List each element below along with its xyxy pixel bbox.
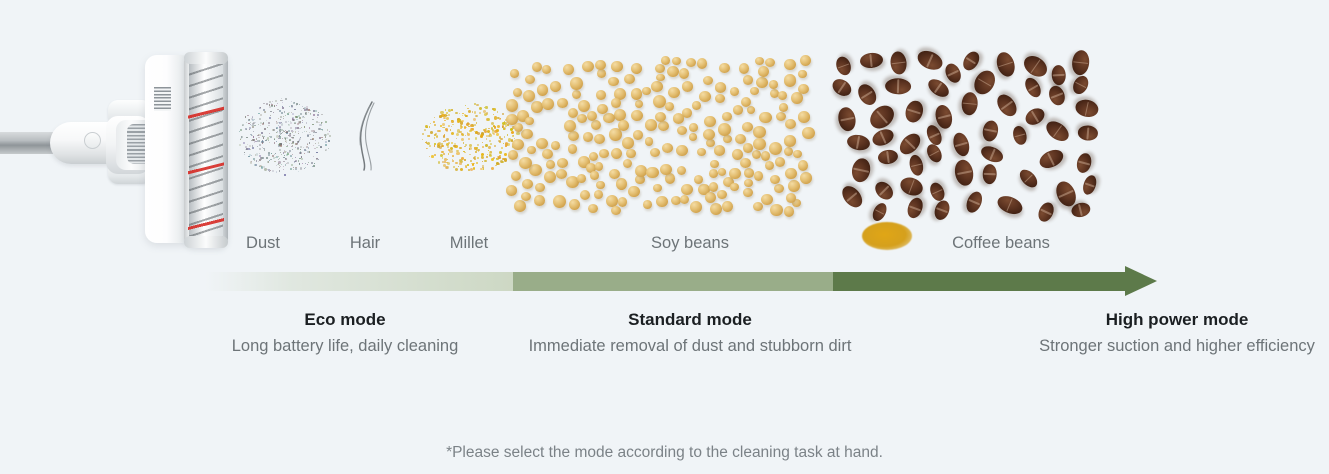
- soy-bean: [672, 57, 681, 66]
- coffee-bean: [908, 153, 925, 176]
- soy-bean: [750, 87, 759, 96]
- mode-title-high-power: High power mode: [1035, 308, 1319, 332]
- coffee-bean: [885, 78, 912, 95]
- soy-bean: [770, 175, 780, 185]
- soy-bean: [611, 61, 623, 72]
- soy-bean: [788, 180, 800, 192]
- soy-bean: [743, 188, 753, 198]
- hair-strands-image: [352, 100, 386, 172]
- coffee-beans-image: [830, 52, 1100, 220]
- coffee-bean: [896, 130, 924, 158]
- soy-bean: [710, 160, 719, 168]
- vacuum-cleaner-head-image: [0, 24, 240, 224]
- soy-bean: [603, 113, 615, 124]
- mode-description-high-power: Stronger suction and higher efficiency: [1035, 333, 1319, 359]
- coffee-bean: [1070, 73, 1091, 96]
- soy-bean: [655, 112, 666, 122]
- soy-bean: [587, 111, 597, 121]
- soy-bean: [689, 123, 698, 132]
- soy-bean: [660, 164, 672, 175]
- mode-description-standard: Immediate removal of dust and stubborn d…: [510, 333, 870, 359]
- soy-bean: [769, 80, 778, 89]
- soy-bean: [690, 201, 702, 213]
- soy-bean: [718, 168, 727, 176]
- soy-bean: [514, 123, 523, 132]
- soy-bean: [535, 183, 545, 193]
- soy-bean: [653, 184, 662, 192]
- coffee-bean: [877, 149, 899, 166]
- coffee-bean: [924, 75, 951, 100]
- soy-bean: [588, 204, 598, 213]
- soy-bean: [569, 199, 580, 210]
- soy-bean: [798, 84, 809, 94]
- arrow-head-icon: [1125, 266, 1157, 296]
- soy-bean: [778, 91, 787, 100]
- soy-bean: [580, 190, 590, 200]
- specimen-label-dust: Dust: [246, 234, 280, 253]
- soy-bean: [611, 148, 623, 160]
- soy-bean: [770, 204, 783, 217]
- soy-bean: [550, 81, 561, 92]
- soy-bean: [667, 66, 679, 77]
- soy-bean: [527, 146, 536, 154]
- soy-bean: [568, 131, 579, 141]
- soy-bean: [665, 173, 675, 184]
- soy-bean: [618, 120, 630, 131]
- soy-bean: [677, 166, 686, 175]
- vacuum-brush-roll: [184, 52, 228, 248]
- coffee-bean: [1022, 76, 1044, 100]
- soy-bean: [739, 63, 749, 74]
- coffee-bean: [995, 192, 1025, 217]
- soy-bean: [677, 126, 687, 135]
- soy-bean: [653, 95, 666, 108]
- coffee-bean: [924, 141, 944, 164]
- soy-bean: [508, 150, 518, 160]
- soy-bean: [697, 58, 707, 68]
- soy-bean: [514, 200, 527, 212]
- soy-bean: [802, 127, 815, 140]
- soy-bean: [609, 169, 620, 179]
- soy-bean: [651, 81, 663, 92]
- coffee-bean: [890, 51, 909, 76]
- soy-bean: [578, 100, 590, 112]
- soy-bean: [793, 150, 802, 158]
- soy-bean: [608, 77, 618, 87]
- coffee-bean: [1046, 83, 1067, 107]
- soy-bean: [784, 74, 797, 86]
- soy-bean: [556, 169, 567, 179]
- soy-bean: [563, 64, 574, 75]
- soy-bean: [722, 201, 733, 212]
- soy-bean: [631, 88, 643, 100]
- coffee-bean: [833, 55, 853, 78]
- soy-bean: [775, 157, 786, 167]
- soy-bean: [506, 185, 517, 195]
- soy-bean: [759, 112, 772, 124]
- soy-bean: [740, 158, 751, 168]
- soy-bean: [785, 168, 796, 179]
- footnote-text: *Please select the mode according to the…: [0, 444, 1329, 462]
- soy-bean: [623, 159, 632, 168]
- coffee-bean: [849, 157, 872, 185]
- specimen-label-millet: Millet: [450, 234, 489, 253]
- soy-bean: [650, 148, 660, 157]
- soy-bean: [656, 74, 665, 82]
- mode-title-eco: Eco mode: [195, 308, 495, 332]
- coffee-bean: [1042, 118, 1072, 146]
- soy-bean: [785, 119, 796, 129]
- coffee-bean: [903, 98, 926, 124]
- soy-bean: [798, 160, 809, 171]
- soy-bean: [754, 171, 763, 181]
- coffee-bean: [950, 131, 971, 159]
- coffee-bean: [846, 133, 871, 152]
- soy-bean: [553, 195, 566, 208]
- coffee-bean: [830, 76, 855, 99]
- soy-bean: [706, 139, 715, 147]
- brush-roll-cap-top: [184, 52, 228, 64]
- soy-bean: [703, 76, 714, 86]
- soy-bean: [525, 75, 535, 84]
- coffee-bean: [1036, 146, 1065, 171]
- soy-bean: [747, 106, 756, 114]
- soy-bean: [658, 121, 669, 131]
- coffee-bean: [860, 51, 884, 68]
- suction-mode-infographic: Dust Hair Millet Soy beans Coffee beans …: [0, 0, 1329, 474]
- soy-bean: [709, 182, 718, 192]
- soy-bean: [582, 61, 594, 72]
- soy-bean: [709, 169, 718, 178]
- soy-bean: [590, 171, 599, 179]
- coffee-bean: [953, 158, 976, 187]
- soy-bean: [733, 105, 743, 114]
- mode-block-eco: Eco mode Long battery life, daily cleani…: [195, 308, 495, 359]
- soy-bean: [719, 63, 730, 74]
- arrow-segment-eco: [205, 272, 513, 291]
- coffee-bean: [942, 61, 963, 85]
- soy-bean: [776, 112, 786, 121]
- coffee-bean: [993, 90, 1020, 119]
- soy-bean: [694, 175, 703, 184]
- specimen-label-soy-beans: Soy beans: [651, 234, 729, 253]
- soy-bean: [642, 87, 651, 96]
- soy-bean: [765, 161, 774, 170]
- soy-bean: [681, 184, 693, 195]
- coffee-bean: [1071, 49, 1091, 76]
- soy-bean: [635, 100, 644, 109]
- soy-bean: [532, 62, 542, 72]
- specimen-label-hair: Hair: [350, 234, 380, 253]
- coffee-bean: [1022, 104, 1047, 127]
- arrow-segment-standard: [513, 272, 833, 291]
- soy-bean: [534, 195, 545, 206]
- soy-bean: [682, 81, 693, 91]
- coffee-bean: [905, 196, 926, 220]
- soy-bean: [597, 69, 607, 78]
- soy-bean: [668, 87, 680, 98]
- mode-description-eco: Long battery life, daily cleaning: [195, 333, 495, 359]
- soy-bean: [537, 84, 549, 96]
- soy-bean: [769, 142, 782, 155]
- soy-bean: [519, 157, 532, 169]
- soy-bean: [633, 130, 644, 140]
- soy-bean: [661, 56, 670, 65]
- soy-bean: [743, 143, 753, 153]
- specimen-label-coffee-beans: Coffee beans: [952, 234, 1050, 253]
- soy-bean: [510, 69, 519, 77]
- soy-bean: [756, 77, 768, 88]
- soy-bean: [599, 149, 609, 158]
- soy-bean: [622, 137, 635, 149]
- coffee-bean: [1077, 126, 1098, 142]
- soy-bean: [512, 139, 524, 151]
- soy-bean: [542, 149, 553, 159]
- coffee-bean: [960, 91, 978, 116]
- soy-bean: [591, 120, 601, 130]
- coffee-bean: [870, 126, 896, 148]
- coffee-bean: [1051, 65, 1066, 85]
- coffee-bean: [870, 201, 889, 224]
- soy-bean: [522, 179, 533, 189]
- soy-bean: [689, 133, 698, 141]
- coffee-bean: [993, 50, 1017, 79]
- brush-roll-red-helix: [188, 60, 224, 240]
- soy-bean: [722, 112, 732, 121]
- coffee-bean: [898, 175, 926, 199]
- soy-bean: [784, 135, 796, 146]
- soy-bean: [692, 101, 701, 110]
- coffee-bean: [914, 48, 945, 74]
- soy-bean: [697, 148, 706, 156]
- soy-bean: [645, 119, 658, 131]
- soy-bean: [568, 144, 578, 154]
- soy-bean: [570, 77, 582, 90]
- coffee-bean: [1075, 151, 1094, 174]
- soy-beans-image: [505, 55, 815, 217]
- soy-bean: [676, 145, 688, 157]
- soy-bean: [679, 68, 689, 79]
- soy-bean: [718, 123, 731, 135]
- soy-bean: [703, 129, 715, 140]
- coffee-bean: [1020, 51, 1051, 80]
- soy-bean: [594, 190, 604, 199]
- mode-block-standard: Standard mode Immediate removal of dust …: [510, 308, 870, 359]
- soy-bean: [542, 65, 552, 74]
- soy-bean: [611, 98, 621, 108]
- soy-bean: [704, 116, 716, 127]
- coffee-bean: [1081, 174, 1099, 197]
- soy-bean: [577, 174, 586, 183]
- soy-bean: [742, 122, 753, 133]
- soy-bean: [800, 172, 812, 184]
- soy-bean: [544, 171, 556, 183]
- coffee-bean: [839, 183, 866, 211]
- soy-bean: [557, 98, 568, 108]
- soy-bean: [779, 103, 789, 112]
- coffee-bean: [979, 143, 1005, 165]
- dust-particles-image: [236, 92, 332, 178]
- coffee-bean: [837, 106, 858, 133]
- soy-bean: [572, 90, 582, 100]
- soy-bean: [645, 137, 654, 146]
- soy-bean: [611, 206, 621, 215]
- specimen-photo-band: [0, 0, 1329, 232]
- vacuum-air-vent: [154, 87, 171, 111]
- soy-bean: [506, 99, 519, 112]
- soy-bean: [589, 152, 598, 161]
- soy-bean: [729, 168, 741, 180]
- soy-bean: [513, 88, 522, 98]
- soy-bean: [523, 90, 535, 102]
- soy-bean: [723, 135, 733, 144]
- soy-bean: [521, 129, 533, 140]
- suction-power-arrow: [0, 272, 1329, 294]
- soy-bean: [715, 82, 726, 92]
- soy-bean: [753, 138, 766, 151]
- soy-bean: [715, 94, 725, 103]
- coffee-bean: [1017, 166, 1041, 190]
- coffee-bean: [963, 189, 985, 215]
- soy-bean: [680, 195, 689, 204]
- coffee-bean: [1011, 124, 1028, 146]
- soy-bean: [577, 114, 587, 124]
- soy-bean: [800, 55, 811, 66]
- soy-bean: [744, 179, 753, 187]
- soy-bean: [635, 165, 647, 178]
- mode-description-row: Eco mode Long battery life, daily cleani…: [0, 308, 1329, 400]
- soy-bean: [643, 200, 652, 209]
- soy-bean: [665, 102, 674, 111]
- soy-bean: [583, 132, 593, 142]
- soy-bean: [752, 150, 761, 159]
- coffee-bean: [1035, 200, 1056, 224]
- soy-bean: [631, 110, 644, 122]
- soy-bean: [536, 138, 548, 149]
- soy-bean: [628, 186, 640, 198]
- soy-bean: [616, 178, 627, 190]
- soy-bean: [564, 120, 576, 132]
- mode-title-standard: Standard mode: [510, 308, 870, 332]
- soy-bean: [761, 151, 770, 160]
- mode-block-high-power: High power mode Stronger suction and hig…: [1035, 308, 1319, 359]
- soy-bean: [714, 145, 726, 156]
- soy-bean: [786, 193, 796, 203]
- coffee-bean: [931, 199, 951, 223]
- soy-bean: [705, 192, 716, 203]
- soy-bean: [784, 59, 796, 71]
- coffee-bean: [981, 120, 1000, 143]
- specimen-label-row: Dust Hair Millet Soy beans Coffee beans: [0, 234, 1329, 264]
- soy-bean: [730, 183, 739, 191]
- soy-bean: [624, 74, 635, 84]
- soy-bean: [753, 126, 766, 139]
- soy-bean: [597, 104, 607, 114]
- vacuum-button-small: [84, 132, 101, 149]
- soy-bean: [557, 158, 568, 168]
- soy-bean: [662, 143, 674, 153]
- soy-bean: [699, 91, 711, 102]
- soy-bean: [656, 196, 668, 207]
- soy-bean: [761, 194, 773, 205]
- soy-bean: [596, 181, 605, 190]
- soy-bean: [710, 203, 722, 215]
- coffee-bean: [960, 48, 982, 72]
- soy-bean: [542, 98, 554, 110]
- soy-bean: [743, 75, 753, 85]
- soy-bean: [546, 160, 555, 169]
- soy-bean: [798, 111, 811, 122]
- soy-bean: [730, 87, 739, 96]
- coffee-bean: [855, 81, 880, 108]
- soy-bean: [595, 60, 606, 71]
- soy-bean: [686, 58, 696, 67]
- soy-bean: [717, 190, 727, 199]
- coffee-bean: [871, 178, 896, 203]
- coffee-bean: [1073, 98, 1099, 119]
- soy-bean: [511, 171, 521, 181]
- soy-bean: [798, 70, 807, 79]
- soy-bean: [784, 147, 793, 156]
- soy-bean: [618, 197, 627, 207]
- soy-bean: [525, 117, 534, 125]
- soy-bean: [758, 66, 769, 77]
- soy-bean: [551, 141, 560, 150]
- soy-bean: [595, 162, 604, 171]
- coffee-bean: [982, 164, 996, 184]
- soy-bean: [655, 64, 665, 73]
- soy-bean: [755, 57, 764, 65]
- soy-bean: [596, 90, 606, 100]
- soy-bean: [774, 184, 784, 193]
- soy-bean: [631, 63, 642, 74]
- soy-bean: [521, 192, 531, 201]
- soy-bean: [784, 206, 795, 217]
- soy-bean: [765, 58, 775, 67]
- soy-bean: [744, 168, 755, 178]
- soy-bean: [594, 134, 605, 145]
- soy-bean: [626, 149, 635, 158]
- arrow-segment-high: [833, 272, 1125, 291]
- soy-bean: [646, 167, 659, 179]
- soy-bean: [673, 113, 685, 124]
